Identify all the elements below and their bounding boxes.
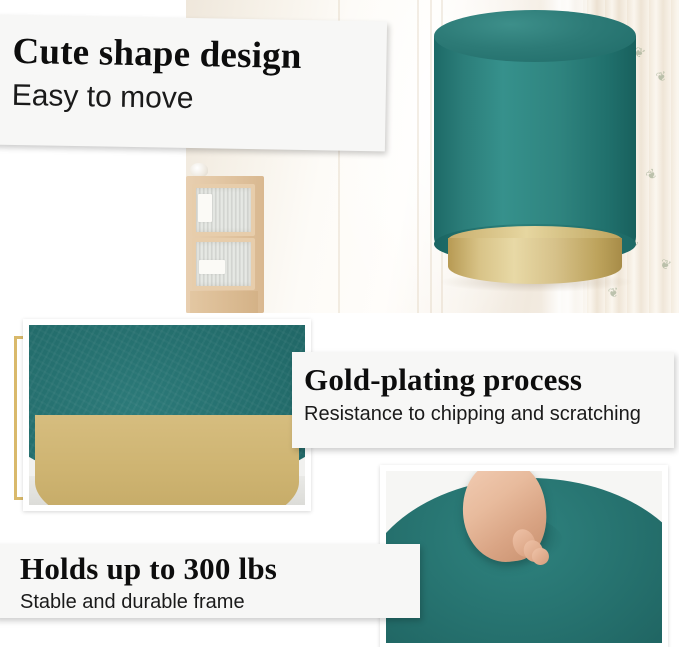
- banner-hero-title: Cute shape design: [12, 29, 387, 82]
- cabinet-glass-door: [192, 238, 255, 290]
- banner-hero-subtitle: Easy to move: [11, 75, 386, 124]
- banner-holds-title: Holds up to 300 lbs: [20, 550, 420, 588]
- detail-photo-gold-base: [23, 319, 311, 511]
- gold-plated-base-closeup: [35, 415, 300, 505]
- cabinet-top-object: [190, 163, 208, 177]
- banner-holds-300-lbs: Holds up to 300 lbs Stable and durable f…: [0, 544, 420, 618]
- wooden-cabinet: [186, 176, 264, 313]
- cabinet-base: [190, 291, 258, 313]
- banner-gold-plating-process: Gold-plating process Resistance to chipp…: [292, 352, 674, 448]
- banner-gold-subtitle: Resistance to chipping and scratching: [304, 399, 674, 429]
- cabinet-item: [198, 194, 212, 222]
- wall-seam: [430, 0, 432, 313]
- ottoman-gold-base: [448, 238, 622, 284]
- cabinet-item: [199, 260, 225, 274]
- banner-cute-shape-design: Cute shape design Easy to move: [0, 15, 387, 152]
- banner-gold-title: Gold-plating process: [304, 361, 674, 399]
- infographic-canvas: ❦ ❦ ❦ ❦ ❦ ❦ ❦ ❦ Cute shape design Easy t…: [0, 0, 679, 647]
- detail-photo-left-inner: [29, 325, 305, 505]
- ottoman-product: [434, 10, 636, 288]
- cabinet-glass-door: [192, 184, 255, 236]
- detail-photo-weight-test: [380, 465, 668, 647]
- ottoman-velvet-body: [434, 36, 636, 251]
- banner-holds-subtitle: Stable and durable frame: [20, 588, 420, 616]
- detail-photo-right-inner: [386, 471, 662, 643]
- wall-seam: [417, 0, 419, 313]
- ottoman-seat-top: [434, 10, 636, 62]
